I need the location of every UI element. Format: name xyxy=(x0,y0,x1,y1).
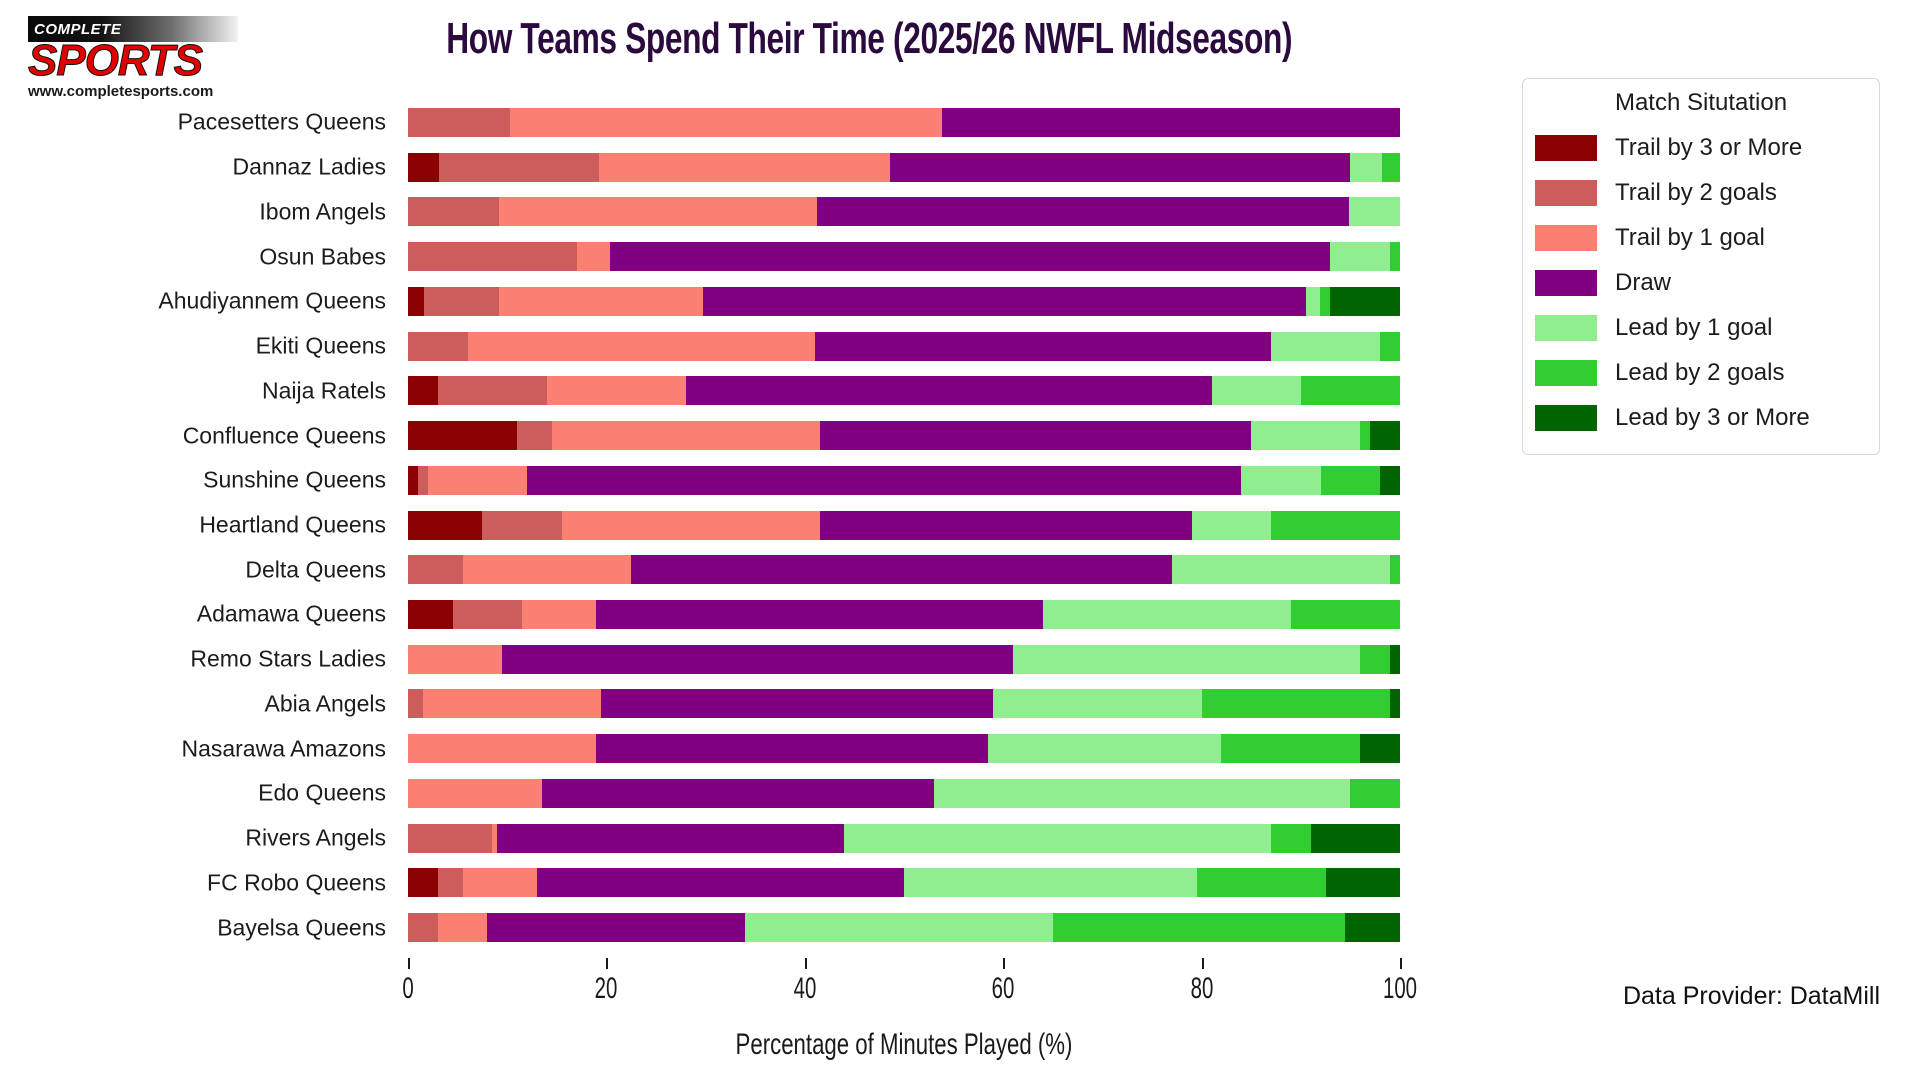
y-axis-label: Osun Babes xyxy=(259,243,386,270)
bar-segment[interactable] xyxy=(408,376,438,405)
bar-segment[interactable] xyxy=(1390,645,1400,674)
bar-segment[interactable] xyxy=(1291,600,1400,629)
bar-row[interactable] xyxy=(408,421,1400,450)
x-axis-tick-label: 100 xyxy=(1383,972,1417,1006)
legend-swatch xyxy=(1535,180,1597,206)
bar-segment[interactable] xyxy=(890,153,1350,182)
legend-item-label: Trail by 3 or More xyxy=(1615,134,1802,162)
bar-segment[interactable] xyxy=(408,153,439,182)
x-axis-tick-label: 60 xyxy=(992,972,1015,1006)
legend-items: Trail by 3 or MoreTrail by 2 goalsTrail … xyxy=(1535,125,1867,440)
bar-segment[interactable] xyxy=(820,421,1252,450)
bar-segment[interactable] xyxy=(1380,466,1400,495)
bar-segment[interactable] xyxy=(499,197,816,226)
y-axis-label: Adamawa Queens xyxy=(197,601,386,628)
legend-item[interactable]: Draw xyxy=(1535,260,1867,305)
x-axis-tick-label: 80 xyxy=(1190,972,1213,1006)
bar-segment[interactable] xyxy=(463,555,632,584)
bar-row[interactable] xyxy=(408,466,1400,495)
legend-swatch xyxy=(1535,315,1597,341)
logo-sports-text: SPORTS xyxy=(28,40,238,82)
bar-segment[interactable] xyxy=(820,511,1192,540)
bar-segment[interactable] xyxy=(408,511,482,540)
bar-segment[interactable] xyxy=(468,332,815,361)
bar-segment[interactable] xyxy=(745,913,1053,942)
bar-segment[interactable] xyxy=(517,421,552,450)
logo-complete-text: COMPLETE xyxy=(34,21,121,38)
chart-title: How Teams Spend Their Time (2025/26 NWFL… xyxy=(446,14,1044,64)
x-axis-tick xyxy=(606,958,608,969)
bar-segment[interactable] xyxy=(408,645,502,674)
bar-segment[interactable] xyxy=(1301,376,1400,405)
bar-segment[interactable] xyxy=(1311,824,1400,853)
bar-segment[interactable] xyxy=(596,734,988,763)
y-axis-label: Nasarawa Amazons xyxy=(181,735,386,762)
legend-item[interactable]: Lead by 3 or More xyxy=(1535,395,1867,440)
bar-segment[interactable] xyxy=(438,868,463,897)
y-axis-team-labels: Pacesetters QueensDannaz LadiesIbom Ange… xyxy=(0,100,396,950)
bar-segment[interactable] xyxy=(1043,600,1291,629)
legend-panel: Match Situtation Trail by 3 or MoreTrail… xyxy=(1522,78,1880,455)
logo-url-text: www.completesports.com xyxy=(28,83,238,100)
legend-title: Match Situtation xyxy=(1535,89,1867,117)
bar-segment[interactable] xyxy=(408,421,517,450)
x-axis-title: Percentage of Minutes Played (%) xyxy=(537,1028,1271,1062)
bar-segment[interactable] xyxy=(408,779,542,808)
y-axis-label: Remo Stars Ladies xyxy=(190,646,386,673)
bar-segment[interactable] xyxy=(423,689,602,718)
bar-segment[interactable] xyxy=(1053,913,1346,942)
x-axis-tick xyxy=(805,958,807,969)
y-axis-label: Naija Ratels xyxy=(262,377,386,404)
bar-segment[interactable] xyxy=(599,153,890,182)
y-axis-label: FC Robo Queens xyxy=(207,869,386,896)
bar-row[interactable] xyxy=(408,108,1400,137)
bar-segment[interactable] xyxy=(408,913,438,942)
bar-segment[interactable] xyxy=(453,600,522,629)
y-axis-label: Ahudiyannem Queens xyxy=(158,288,386,315)
bar-segment[interactable] xyxy=(631,555,1172,584)
bar-segment[interactable] xyxy=(601,689,993,718)
legend-swatch xyxy=(1535,270,1597,296)
bar-segment[interactable] xyxy=(428,466,527,495)
y-axis-label: Abia Angels xyxy=(265,690,386,717)
bar-segment[interactable] xyxy=(522,600,596,629)
bar-row[interactable] xyxy=(408,824,1400,853)
bar-segment[interactable] xyxy=(1221,734,1360,763)
bar-segment[interactable] xyxy=(1390,689,1400,718)
bar-segment[interactable] xyxy=(988,734,1221,763)
legend-item-label: Trail by 1 goal xyxy=(1615,224,1765,252)
y-axis-label: Ekiti Queens xyxy=(256,333,386,360)
bar-segment[interactable] xyxy=(1380,332,1400,361)
y-axis-label: Rivers Angels xyxy=(245,825,386,852)
bar-segment[interactable] xyxy=(1212,376,1301,405)
bar-segment[interactable] xyxy=(904,868,1197,897)
bar-segment[interactable] xyxy=(408,242,577,271)
bar-segment[interactable] xyxy=(499,287,702,316)
bar-segment[interactable] xyxy=(1382,153,1400,182)
bar-segment[interactable] xyxy=(1360,645,1390,674)
x-axis-tick xyxy=(408,958,410,969)
bar-segment[interactable] xyxy=(408,466,418,495)
x-axis-tick-label: 0 xyxy=(402,972,413,1006)
bar-segment[interactable] xyxy=(1390,242,1400,271)
bar-segment[interactable] xyxy=(610,242,1329,271)
bar-segment[interactable] xyxy=(537,868,904,897)
legend-item-label: Draw xyxy=(1615,269,1671,297)
bar-row[interactable] xyxy=(408,868,1400,897)
bar-row[interactable] xyxy=(408,600,1400,629)
bar-segment[interactable] xyxy=(408,689,423,718)
y-axis-label: Confluence Queens xyxy=(183,422,386,449)
legend-item-label: Lead by 2 goals xyxy=(1615,359,1784,387)
bar-row[interactable] xyxy=(408,376,1400,405)
bar-row[interactable] xyxy=(408,287,1400,316)
bar-segment[interactable] xyxy=(418,466,428,495)
legend-item[interactable]: Lead by 1 goal xyxy=(1535,305,1867,350)
bar-segment[interactable] xyxy=(1241,466,1320,495)
bar-segment[interactable] xyxy=(1390,555,1400,584)
bar-segment[interactable] xyxy=(408,555,463,584)
bar-segment[interactable] xyxy=(1345,913,1400,942)
legend-swatch xyxy=(1535,405,1597,431)
bar-segment[interactable] xyxy=(844,824,1271,853)
y-axis-label: Dannaz Ladies xyxy=(233,154,386,181)
bar-segment[interactable] xyxy=(463,868,537,897)
bar-segment[interactable] xyxy=(815,332,1271,361)
bar-segment[interactable] xyxy=(686,376,1212,405)
bar-segment[interactable] xyxy=(408,108,510,137)
y-axis-label: Edo Queens xyxy=(258,780,386,807)
bar-segment[interactable] xyxy=(817,197,1350,226)
bar-segment[interactable] xyxy=(1271,511,1400,540)
bar-segment[interactable] xyxy=(1350,779,1400,808)
bar-row[interactable] xyxy=(408,913,1400,942)
bar-segment[interactable] xyxy=(1251,421,1360,450)
bar-segment[interactable] xyxy=(482,511,561,540)
legend-swatch xyxy=(1535,225,1597,251)
bar-segment[interactable] xyxy=(408,332,468,361)
bar-row[interactable] xyxy=(408,332,1400,361)
bar-segment[interactable] xyxy=(527,466,1241,495)
bar-segment[interactable] xyxy=(497,824,844,853)
bar-segment[interactable] xyxy=(703,287,1306,316)
bar-row[interactable] xyxy=(408,689,1400,718)
bar-segment[interactable] xyxy=(408,734,596,763)
bar-segment[interactable] xyxy=(1330,242,1391,271)
bar-row[interactable] xyxy=(408,645,1400,674)
legend-item[interactable]: Trail by 2 goals xyxy=(1535,170,1867,215)
bar-segment[interactable] xyxy=(1202,689,1390,718)
bar-segment[interactable] xyxy=(596,600,1042,629)
y-axis-label: Bayelsa Queens xyxy=(217,914,386,941)
y-axis-label: Pacesetters Queens xyxy=(178,109,386,136)
bar-segment[interactable] xyxy=(1192,511,1271,540)
bar-segment[interactable] xyxy=(439,153,600,182)
bar-segment[interactable] xyxy=(577,242,611,271)
bar-segment[interactable] xyxy=(1306,287,1320,316)
bar-row[interactable] xyxy=(408,511,1400,540)
y-axis-label: Delta Queens xyxy=(245,556,386,583)
bar-segment[interactable] xyxy=(934,779,1351,808)
y-axis-label: Heartland Queens xyxy=(199,512,386,539)
bar-segment[interactable] xyxy=(1360,421,1370,450)
bar-segment[interactable] xyxy=(562,511,820,540)
bar-segment[interactable] xyxy=(1013,645,1360,674)
bar-segment[interactable] xyxy=(408,600,453,629)
bar-segment[interactable] xyxy=(1172,555,1390,584)
y-axis-label: Ibom Angels xyxy=(259,198,386,225)
bar-row[interactable] xyxy=(408,779,1400,808)
bar-segment[interactable] xyxy=(1349,197,1400,226)
bar-segment[interactable] xyxy=(502,645,1013,674)
y-axis-label: Sunshine Queens xyxy=(203,467,386,494)
bar-segment[interactable] xyxy=(942,108,1400,137)
x-axis-tick xyxy=(1202,958,1204,969)
bar-row[interactable] xyxy=(408,242,1400,271)
bar-segment[interactable] xyxy=(424,287,499,316)
bar-segment[interactable] xyxy=(1320,287,1330,316)
bar-segment[interactable] xyxy=(1360,734,1400,763)
bar-segment[interactable] xyxy=(1271,824,1311,853)
bar-row[interactable] xyxy=(408,555,1400,584)
bar-segment[interactable] xyxy=(1350,153,1382,182)
x-axis-tick-label: 40 xyxy=(793,972,816,1006)
legend-item[interactable]: Trail by 1 goal xyxy=(1535,215,1867,260)
bar-segment[interactable] xyxy=(408,824,492,853)
bar-segment[interactable] xyxy=(1197,868,1326,897)
bar-segment[interactable] xyxy=(1330,287,1400,316)
bar-segment[interactable] xyxy=(547,376,686,405)
bar-segment[interactable] xyxy=(993,689,1201,718)
bar-segment[interactable] xyxy=(542,779,934,808)
bar-segment[interactable] xyxy=(1321,466,1381,495)
bar-segment[interactable] xyxy=(552,421,820,450)
bar-segment[interactable] xyxy=(408,287,424,316)
bar-segment[interactable] xyxy=(408,197,499,226)
complete-sports-logo: COMPLETE SPORTS www.completesports.com xyxy=(28,16,238,100)
legend-swatch xyxy=(1535,360,1597,386)
bar-segment[interactable] xyxy=(510,108,942,137)
x-axis-tick xyxy=(1400,958,1402,969)
legend-item[interactable]: Trail by 3 or More xyxy=(1535,125,1867,170)
bar-segment[interactable] xyxy=(408,868,438,897)
bar-row[interactable] xyxy=(408,153,1400,182)
bar-segment[interactable] xyxy=(438,913,488,942)
x-axis-tick xyxy=(1003,958,1005,969)
legend-item-label: Lead by 1 goal xyxy=(1615,314,1772,342)
legend-item-label: Trail by 2 goals xyxy=(1615,179,1777,207)
bar-segment[interactable] xyxy=(438,376,547,405)
bar-segment[interactable] xyxy=(1271,332,1380,361)
bar-segment[interactable] xyxy=(1370,421,1400,450)
legend-item[interactable]: Lead by 2 goals xyxy=(1535,350,1867,395)
bar-row[interactable] xyxy=(408,197,1400,226)
legend-item-label: Lead by 3 or More xyxy=(1615,404,1810,432)
legend-swatch xyxy=(1535,135,1597,161)
stacked-bar-plot-area xyxy=(408,100,1400,950)
bar-segment[interactable] xyxy=(487,913,745,942)
x-axis-tick-label: 20 xyxy=(595,972,618,1006)
bar-segment[interactable] xyxy=(1326,868,1400,897)
bar-row[interactable] xyxy=(408,734,1400,763)
data-provider-text: Data Provider: DataMill xyxy=(1623,982,1880,1011)
